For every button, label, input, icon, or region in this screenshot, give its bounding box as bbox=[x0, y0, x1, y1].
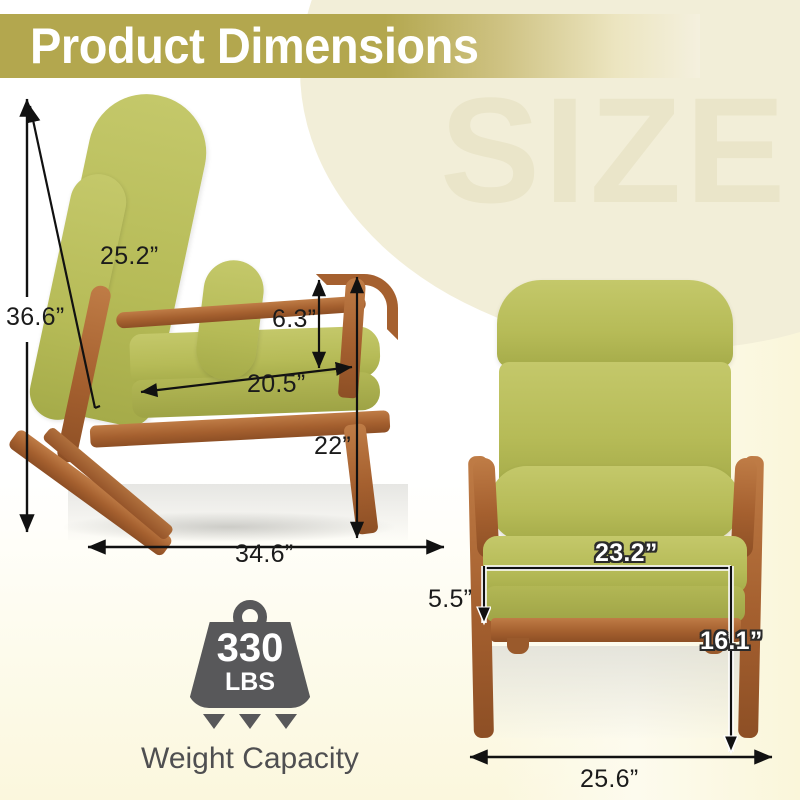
wood-left-foot bbox=[507, 638, 529, 654]
dimension-label-armrest-height: 6.3” bbox=[272, 305, 316, 334]
product-dimensions-infographic: SIZE Product Dimensions bbox=[0, 0, 800, 800]
weight-capacity-block: 330 LBS Weight Capacity bbox=[120, 600, 380, 780]
side-view-chair bbox=[20, 88, 440, 548]
dimension-label-cushion-thickness: 5.5” bbox=[428, 585, 472, 614]
dimension-label-backrest-height: 25.2” bbox=[100, 242, 158, 271]
size-watermark-text: SIZE bbox=[440, 75, 800, 225]
weight-capacity-unit: LBS bbox=[175, 670, 325, 695]
front-view-chair bbox=[455, 280, 775, 730]
dimension-label-seat-height: 16.1” bbox=[700, 627, 763, 656]
seat-cushion-front-bottom bbox=[485, 586, 745, 622]
dimension-label-seat-depth: 20.5” bbox=[247, 370, 305, 399]
dimension-label-seat-width: 23.2” bbox=[595, 539, 658, 568]
weight-arrow-triangles bbox=[175, 714, 325, 738]
triangle-icon-2 bbox=[239, 714, 261, 729]
bolster-pillow bbox=[489, 466, 741, 542]
page-title: Product Dimensions bbox=[30, 15, 479, 77]
floor-band-front bbox=[489, 646, 743, 738]
weight-icon: 330 LBS bbox=[175, 600, 325, 720]
chair-headrest-front bbox=[497, 280, 733, 368]
triangle-icon-1 bbox=[203, 714, 225, 729]
weight-capacity-caption: Weight Capacity bbox=[120, 742, 380, 776]
triangle-icon-3 bbox=[275, 714, 297, 729]
dimension-label-overall-width: 25.6” bbox=[580, 765, 638, 794]
dimension-label-backrest-to-floor: 22” bbox=[314, 432, 351, 461]
dimension-label-overall-height: 36.6” bbox=[6, 303, 64, 332]
weight-capacity-number: 330 bbox=[175, 628, 325, 668]
dimension-label-overall-depth: 34.6” bbox=[235, 540, 293, 569]
